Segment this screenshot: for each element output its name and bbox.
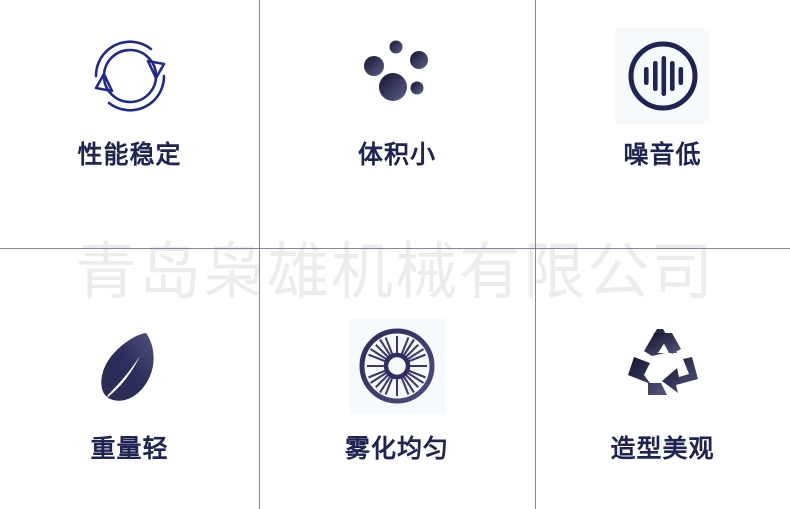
spoked-wheel-icon [349,318,445,414]
feature-label: 体积小 [358,142,436,167]
feature-label: 噪音低 [623,142,701,167]
feature-label: 雾化均匀 [345,436,449,461]
dots-cluster-icon [349,28,445,124]
feature-grid-banner: 青岛枭雄机械有限公司 [0,0,790,509]
refresh-cycle-icon [82,28,178,124]
feature-cell-performance-stable: 性能稳定 [0,0,259,248]
feature-cell-compact-size: 体积小 [259,0,535,248]
feature-cell-light-weight: 重量轻 [0,248,259,509]
recycle-icon [615,318,711,414]
sound-wave-circle-icon [615,28,711,124]
feature-label: 重量轻 [90,436,168,461]
leaf-icon [82,318,178,414]
feature-cell-attractive-design: 造型美观 [535,248,790,509]
feature-cell-even-atomization: 雾化均匀 [259,248,535,509]
feature-label: 性能稳定 [77,142,181,167]
feature-cell-low-noise: 噪音低 [535,0,790,248]
features-grid: 性能稳定 [0,0,790,509]
feature-label: 造型美观 [610,436,714,461]
